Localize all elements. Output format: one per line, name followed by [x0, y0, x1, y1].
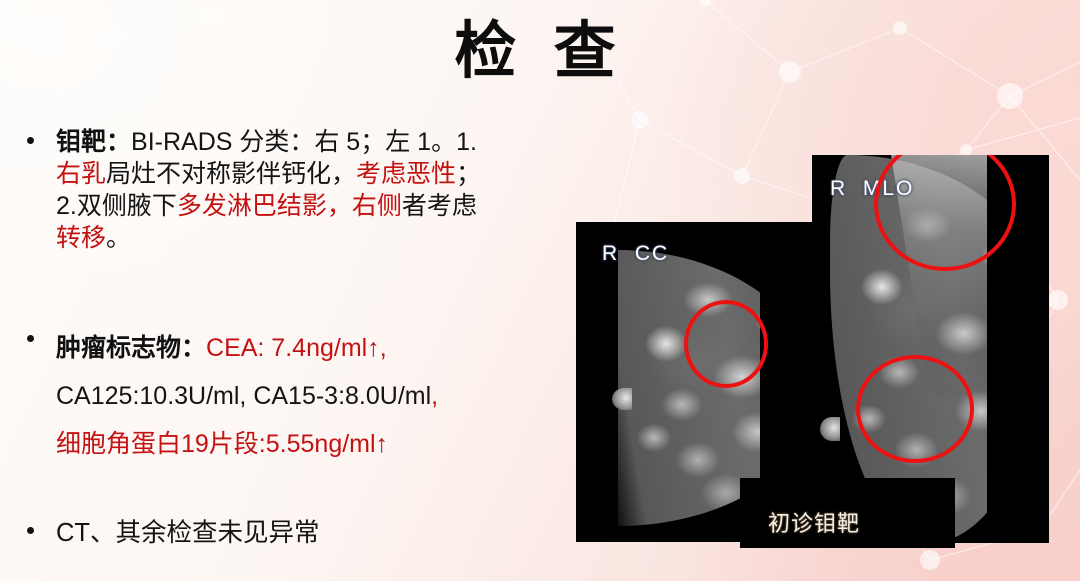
- bullet-text-mammography: 钼靶：BI-RADS 分类：右 5；左 1。1. 右乳局灶不对称影伴钙化，考虑恶…: [56, 126, 608, 254]
- run-text: 者考虑: [402, 192, 477, 220]
- page-title: 检 查: [0, 16, 1080, 87]
- bullet-item-ct-other: CT、其余检查未见异常: [18, 516, 608, 550]
- panel-label-cc: R CC: [602, 242, 669, 266]
- bullet-dot-icon: [27, 137, 34, 144]
- run-text: 考虑恶性: [356, 160, 456, 188]
- bullet-item-mammography: 钼靶：BI-RADS 分类：右 5；左 1。1. 右乳局灶不对称影伴钙化，考虑恶…: [18, 126, 608, 254]
- mlo-nipple: [820, 417, 840, 441]
- bullet-dot-icon: [27, 335, 34, 342]
- run-text: 。: [106, 224, 131, 252]
- lesion-marker-circle: [856, 355, 974, 463]
- run-label: 钼靶：: [56, 128, 131, 156]
- bullet-text-ct-other: CT、其余检查未见异常: [56, 516, 608, 550]
- lesion-marker-circle: [684, 300, 768, 388]
- run-text: CEA: 7.4ng/ml↑,: [206, 334, 387, 362]
- bullet-item-tumor-markers: 肿瘤标志物：CEA: 7.4ng/ml↑, CA125:10.3U/ml, CA…: [18, 324, 608, 468]
- run-text: 右乳: [56, 160, 106, 188]
- run-text: 转移: [56, 224, 106, 252]
- cc-nipple: [612, 388, 632, 410]
- bullet-text-tumor-markers: 肿瘤标志物：CEA: 7.4ng/ml↑, CA125:10.3U/ml, CA…: [56, 324, 608, 468]
- run-text: 细胞角蛋白19片段:5.55ng/ml↑: [56, 430, 388, 458]
- run-text: CT、其余检查未见异常: [56, 519, 320, 547]
- bullet-dot-icon: [27, 527, 34, 534]
- run-label: 肿瘤标志物：: [56, 334, 206, 362]
- slide-canvas: 检 查 钼靶：BI-RADS 分类：右 5；左 1。1. 右乳局灶不对称影伴钙化…: [0, 0, 1080, 581]
- image-caption: 初诊钼靶: [768, 506, 860, 538]
- run-text: 多发淋巴结影，右侧: [177, 192, 402, 220]
- run-text: CA125:10.3U/ml, CA15-3:8.0U/ml: [56, 382, 431, 410]
- run-text: ,: [431, 382, 438, 410]
- run-text: BI-RADS 分类：右 5；左 1。1.: [131, 128, 477, 156]
- run-text: 局灶不对称影伴钙化，: [106, 160, 356, 188]
